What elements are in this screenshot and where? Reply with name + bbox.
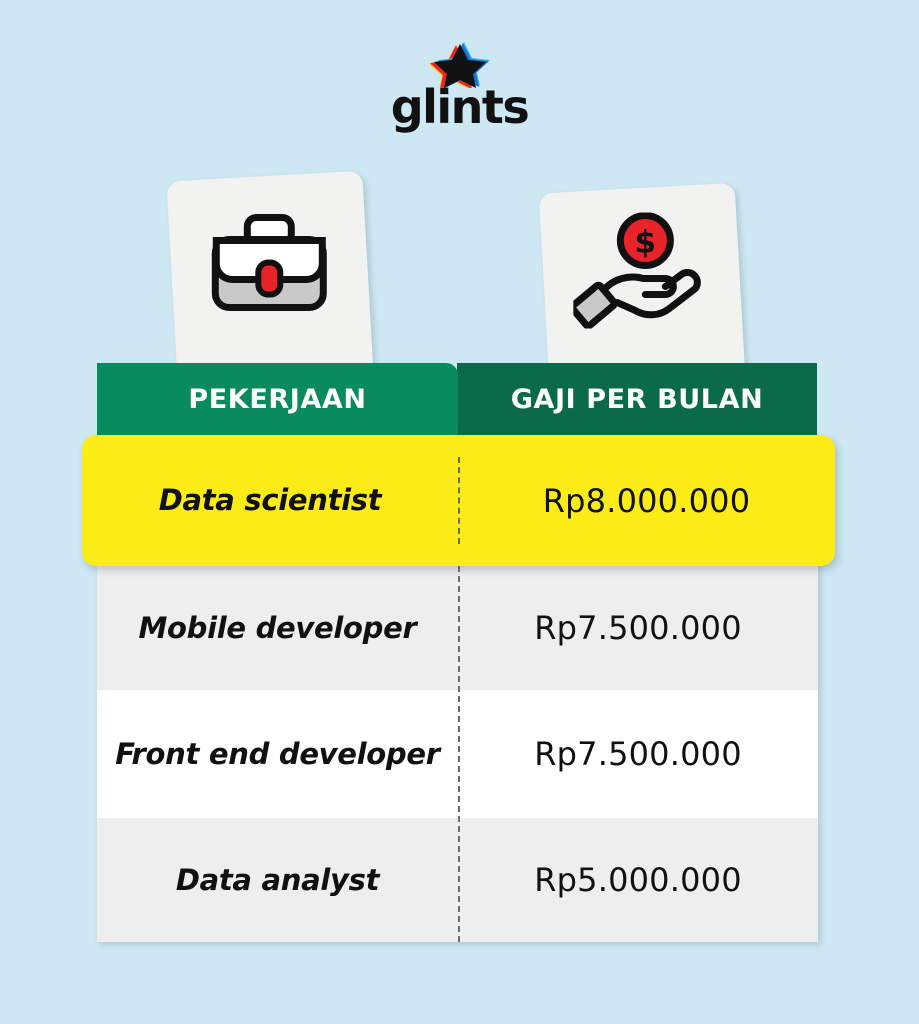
table-header-row: PEKERJAAN GAJI PER BULAN bbox=[97, 363, 818, 435]
svg-text:$: $ bbox=[635, 224, 657, 260]
star-icon bbox=[430, 40, 490, 88]
column-header-job: PEKERJAAN bbox=[97, 363, 458, 435]
column-divider bbox=[458, 566, 460, 942]
column-header-job-label: PEKERJAAN bbox=[188, 384, 366, 415]
brand-name: glints bbox=[0, 84, 919, 130]
job-icon-card bbox=[166, 171, 373, 387]
column-header-salary-label: GAJI PER BULAN bbox=[511, 384, 764, 415]
column-divider bbox=[458, 457, 460, 544]
briefcase-icon bbox=[207, 208, 331, 325]
cell-salary: Rp8.000.000 bbox=[458, 435, 835, 566]
cell-job: Front end developer bbox=[97, 690, 458, 818]
table-body: Data scientist Rp8.000.000 Mobile develo… bbox=[97, 435, 818, 942]
cell-job: Data analyst bbox=[97, 818, 458, 942]
table-row-highlighted[interactable]: Data scientist Rp8.000.000 bbox=[82, 435, 835, 566]
salary-table: PEKERJAAN GAJI PER BULAN Data scientist … bbox=[97, 363, 818, 942]
cell-salary: Rp5.000.000 bbox=[458, 818, 818, 942]
cell-job: Mobile developer bbox=[97, 566, 458, 690]
column-header-salary: GAJI PER BULAN bbox=[457, 363, 817, 435]
salary-icon-card: $ bbox=[539, 183, 745, 387]
cell-job: Data scientist bbox=[82, 435, 458, 566]
cell-salary: Rp7.500.000 bbox=[458, 690, 818, 818]
cell-salary: Rp7.500.000 bbox=[458, 566, 818, 690]
money-in-hand-icon: $ bbox=[573, 212, 709, 333]
brand-logo: glints bbox=[0, 40, 919, 130]
